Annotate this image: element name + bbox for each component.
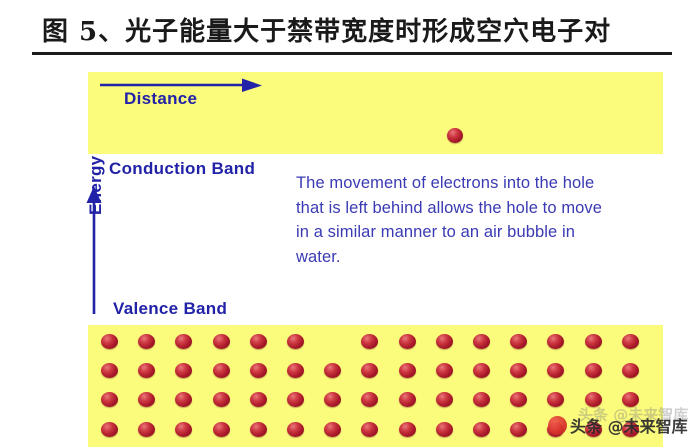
figure-title: 图 5、光子能量大于禁带宽度时形成空穴电子对 [42,14,662,52]
valence-electron [138,334,155,349]
valence-electron [510,363,527,378]
valence-electron [399,363,416,378]
valence-electron [622,363,639,378]
valence-electron [213,422,230,437]
valence-electron [547,392,564,407]
valence-electron [250,363,267,378]
valence-electron [510,392,527,407]
valence-band-label: Valence Band [113,299,227,319]
valence-electron [436,363,453,378]
valence-electron [138,422,155,437]
valence-electron [547,334,564,349]
valence-electron [101,422,118,437]
explanation-paragraph: The movement of electrons into the hole … [296,171,616,269]
valence-electron [436,392,453,407]
figure-container: 图 5、光子能量大于禁带宽度时形成空穴电子对 Distance Energy C… [0,0,700,447]
watermark-text: 头条 @未来智库 [570,413,688,437]
valence-electron [138,392,155,407]
valence-electron [399,392,416,407]
conduction-band-electron [447,128,463,143]
valence-electron [473,334,490,349]
valence-electron [287,334,304,349]
valence-electron [287,392,304,407]
watermark: 头条 @未来智库 [548,412,688,438]
valence-electron [175,334,192,349]
valence-electron [473,392,490,407]
valence-electron [138,363,155,378]
valence-electron [622,334,639,349]
valence-electron [436,422,453,437]
valence-electron [399,422,416,437]
energy-axis-label: Energy [86,156,106,215]
valence-electron [213,392,230,407]
valence-electron [175,422,192,437]
valence-electron [101,392,118,407]
conduction-band-label: Conduction Band [109,159,255,179]
valence-electron [361,334,378,349]
valence-electron [324,363,341,378]
valence-electron [510,334,527,349]
valence-electron [547,363,564,378]
valence-electron [287,363,304,378]
valence-electron [361,422,378,437]
title-underline-rule [32,52,672,55]
valence-electron [250,392,267,407]
valence-electron [585,363,602,378]
valence-electron [101,363,118,378]
valence-electron [399,334,416,349]
valence-electron [324,392,341,407]
valence-electron [175,392,192,407]
valence-electron [287,422,304,437]
valence-electron [175,363,192,378]
valence-electron [250,334,267,349]
valence-electron [250,422,267,437]
valence-electron [213,363,230,378]
valence-electron [361,363,378,378]
valence-electron [585,334,602,349]
valence-electron [361,392,378,407]
valence-electron [213,334,230,349]
toutiao-logo-icon [548,416,567,435]
valence-electron [324,422,341,437]
valence-electron [510,422,527,437]
valence-electron [436,334,453,349]
valence-electron [473,422,490,437]
valence-electron [101,334,118,349]
valence-electron [473,363,490,378]
distance-axis-label: Distance [124,89,197,109]
